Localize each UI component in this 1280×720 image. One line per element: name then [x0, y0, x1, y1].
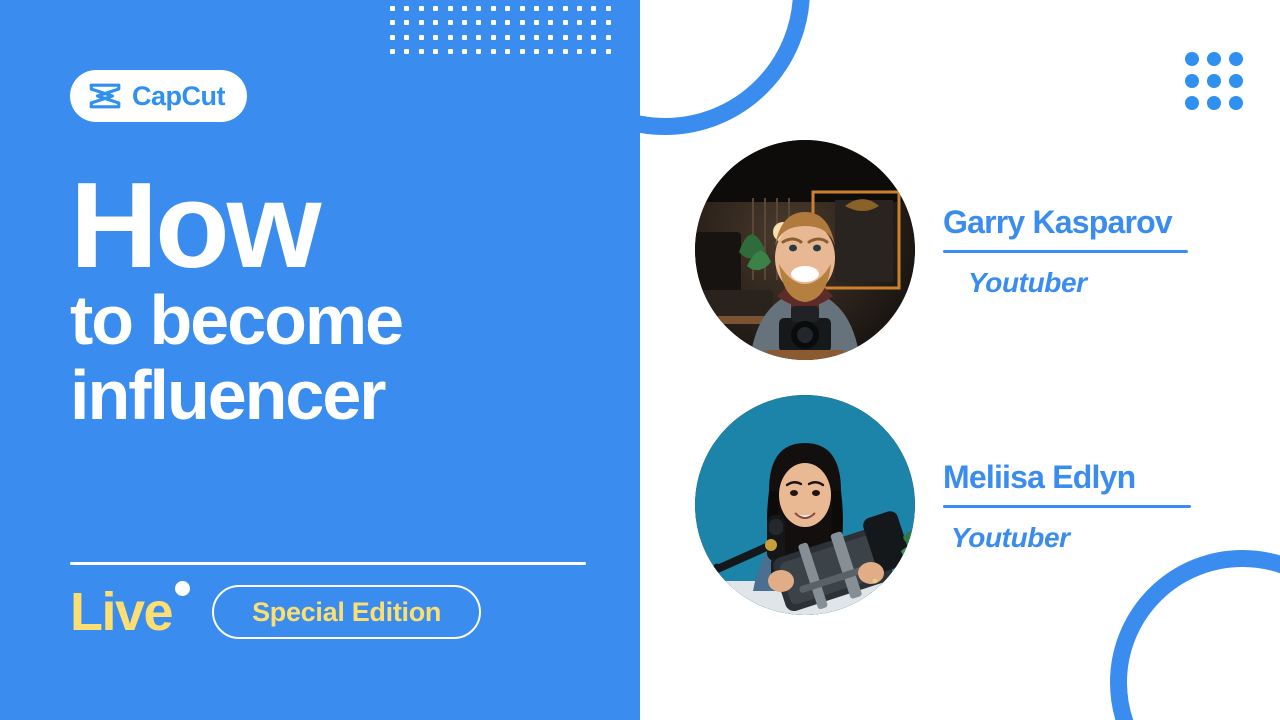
grid-dot: [404, 6, 409, 11]
grid-dot: [419, 6, 424, 11]
grid-dot: [520, 49, 525, 54]
grid-dot: [419, 35, 424, 40]
left-blue-panel: CapCut How to become influencer Live Spe…: [0, 0, 640, 720]
special-edition-badge[interactable]: Special Edition: [212, 585, 481, 639]
grid-dot: [548, 35, 553, 40]
headline-block: How to become influencer: [70, 168, 615, 432]
speaker-name: Meliisa Edlyn: [943, 460, 1225, 495]
grid-dot: [1229, 74, 1243, 88]
grid-dot: [476, 6, 481, 11]
grid-dot: [606, 20, 611, 25]
grid-dot: [548, 6, 553, 11]
grid-dot: [577, 20, 582, 25]
grid-dot: [505, 35, 510, 40]
live-label: Live: [70, 585, 190, 639]
special-edition-badge-label: Special Edition: [252, 597, 441, 628]
speaker-name-underline: [943, 505, 1191, 508]
grid-dot: [462, 49, 467, 54]
grid-dot: [534, 20, 539, 25]
grid-dot: [1185, 52, 1199, 66]
grid-dot: [591, 20, 596, 25]
grid-dot: [505, 49, 510, 54]
speaker-info: Meliisa Edlyn Youtuber: [943, 456, 1225, 553]
grid-dot: [520, 6, 525, 11]
grid-dot: [591, 49, 596, 54]
grid-dot: [491, 20, 496, 25]
grid-dot: [505, 6, 510, 11]
grid-dot: [462, 20, 467, 25]
grid-dot: [491, 35, 496, 40]
speaker-info: Garry Kasparov Youtuber: [943, 201, 1225, 298]
grid-dot: [1207, 74, 1221, 88]
capcut-hourglass-icon: [88, 83, 122, 109]
grid-dot: [606, 35, 611, 40]
headline-line-3: influencer: [70, 358, 615, 433]
grid-dot: [404, 35, 409, 40]
speaker-name-underline: [943, 250, 1188, 253]
grid-dot: [1185, 96, 1199, 110]
grid-dot: [448, 6, 453, 11]
grid-dot: [419, 20, 424, 25]
grid-dot: [563, 35, 568, 40]
live-row: Live Special Edition: [70, 585, 481, 639]
avatar: [695, 140, 915, 360]
grid-dot: [520, 35, 525, 40]
grid-dot: [390, 6, 395, 11]
grid-dot: [563, 49, 568, 54]
arc-top-left-decoration: [640, 0, 810, 135]
grid-dot: [476, 49, 481, 54]
speaker-card-1[interactable]: Garry Kasparov Youtuber: [695, 140, 1225, 360]
grid-dot: [591, 6, 596, 11]
speaker-card-2[interactable]: Meliisa Edlyn Youtuber: [695, 395, 1225, 615]
capcut-logo-pill[interactable]: CapCut: [70, 70, 247, 122]
grid-dot: [448, 35, 453, 40]
right-white-panel: Garry Kasparov Youtuber: [640, 0, 1280, 720]
live-indicator-dot: [175, 581, 190, 596]
grid-dot: [1207, 96, 1221, 110]
grid-dot: [390, 49, 395, 54]
grid-dot: [534, 35, 539, 40]
speaker-name: Garry Kasparov: [943, 205, 1225, 240]
grid-dot: [462, 6, 467, 11]
grid-dot: [591, 35, 596, 40]
headline-line-2: to become: [70, 283, 615, 358]
grid-dot: [1185, 74, 1199, 88]
grid-dot: [563, 20, 568, 25]
headline-line-1: How: [70, 168, 615, 283]
grid-dot: [419, 49, 424, 54]
grid-dot: [433, 6, 438, 11]
headline-divider: [70, 562, 586, 565]
grid-dot: [606, 49, 611, 54]
promo-poster: CapCut How to become influencer Live Spe…: [0, 0, 1280, 720]
grid-dot: [433, 49, 438, 54]
grid-dot: [1229, 52, 1243, 66]
grid-dot: [476, 20, 481, 25]
dot-grid-white-decoration: [390, 6, 620, 64]
grid-dot: [476, 35, 481, 40]
grid-dot: [390, 35, 395, 40]
grid-dot: [505, 20, 510, 25]
grid-dot: [404, 49, 409, 54]
grid-dot: [433, 35, 438, 40]
grid-dot: [404, 20, 409, 25]
grid-dot: [1229, 96, 1243, 110]
grid-dot: [448, 49, 453, 54]
grid-dot: [491, 49, 496, 54]
grid-dot: [534, 49, 539, 54]
grid-dot: [577, 49, 582, 54]
grid-dot: [433, 20, 438, 25]
live-label-text: Live: [70, 582, 172, 642]
grid-dot: [606, 6, 611, 11]
dot-grid-blue-decoration: [1185, 52, 1251, 118]
speaker-role: Youtuber: [943, 267, 1225, 299]
grid-dot: [534, 6, 539, 11]
grid-dot: [577, 35, 582, 40]
grid-dot: [563, 6, 568, 11]
grid-dot: [520, 20, 525, 25]
grid-dot: [390, 20, 395, 25]
speaker-role: Youtuber: [943, 522, 1225, 554]
grid-dot: [1207, 52, 1221, 66]
grid-dot: [448, 20, 453, 25]
grid-dot: [577, 6, 582, 11]
avatar: [695, 395, 915, 615]
grid-dot: [462, 35, 467, 40]
grid-dot: [491, 6, 496, 11]
grid-dot: [548, 20, 553, 25]
capcut-logo-text: CapCut: [132, 83, 225, 110]
grid-dot: [548, 49, 553, 54]
